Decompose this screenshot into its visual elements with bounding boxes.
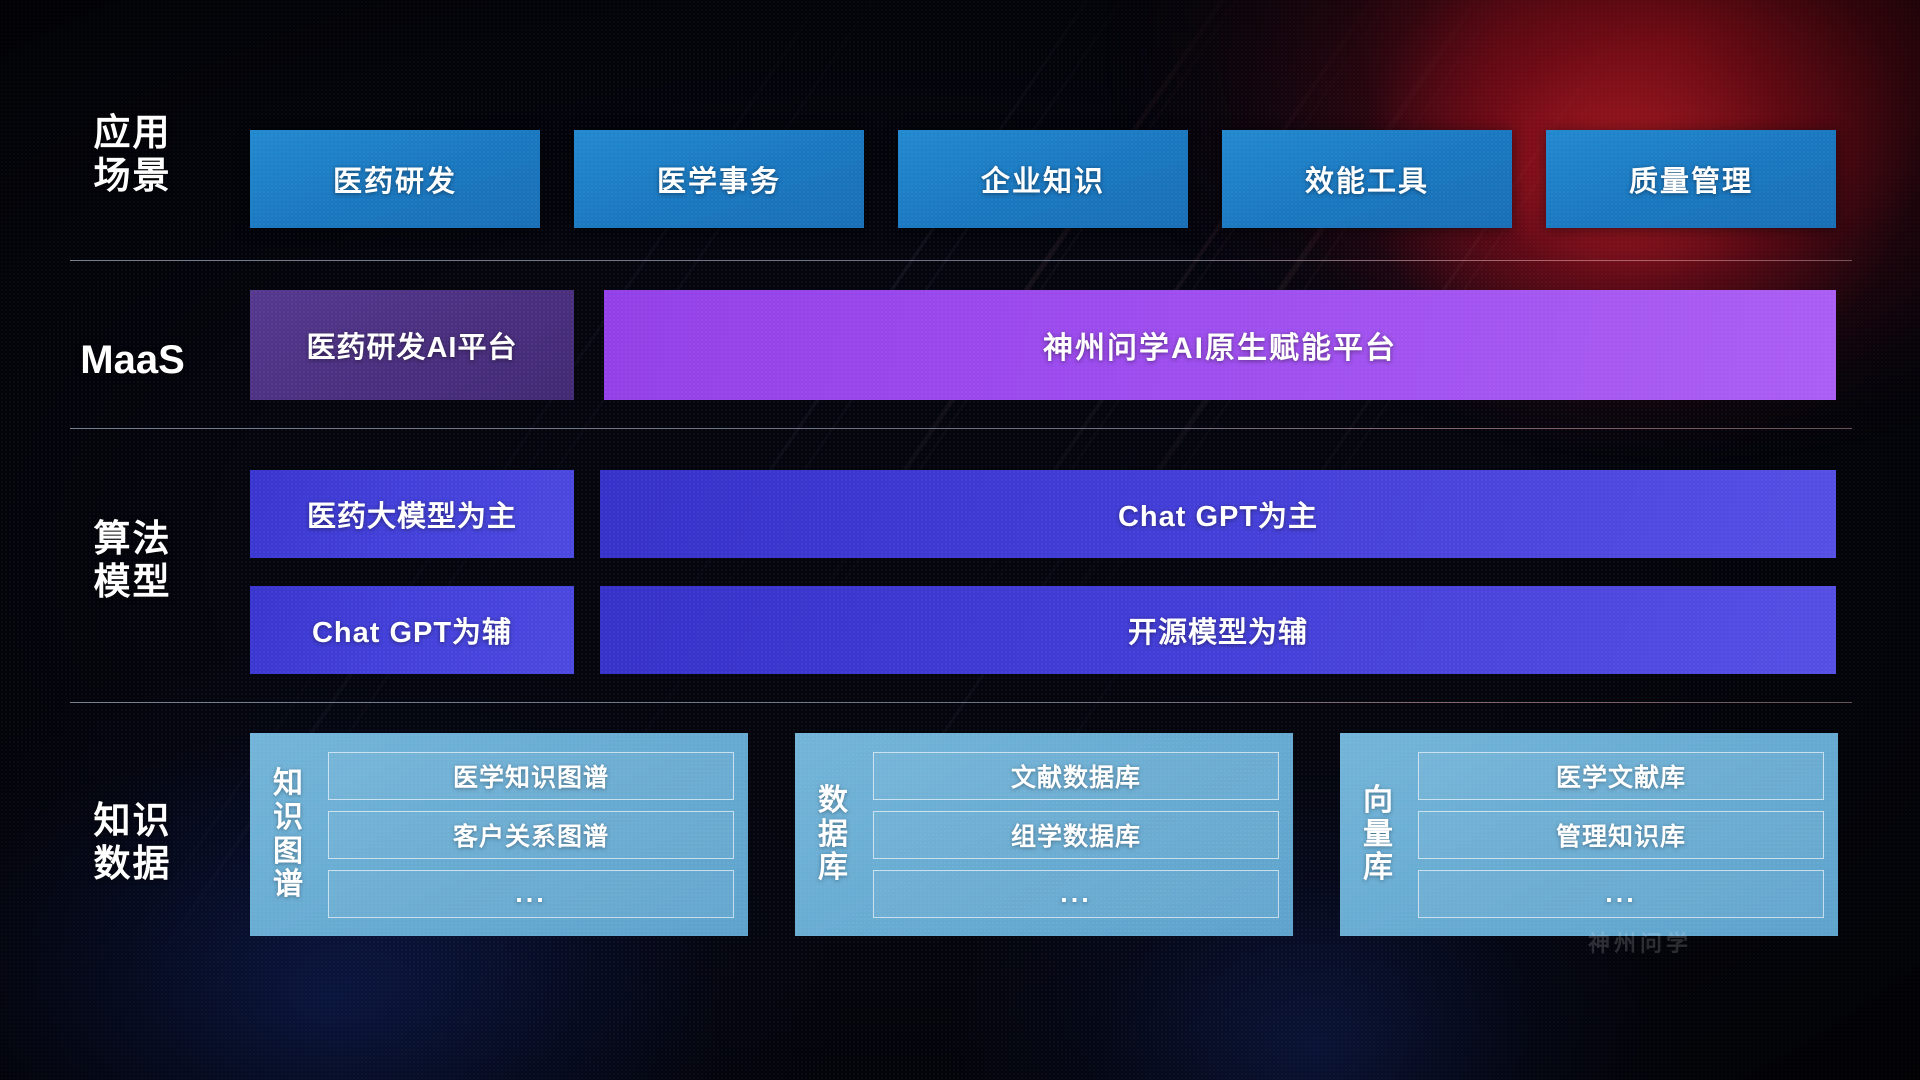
app-box-efficiency-tools[interactable]: 效能工具 <box>1222 130 1512 228</box>
knowledge-panel-vertical-title: 数 据 库 <box>805 743 861 926</box>
knowledge-item[interactable]: 客户关系图谱 <box>328 811 734 859</box>
vtitle-char: 识 <box>273 801 303 835</box>
vtitle-char: 库 <box>1363 851 1393 885</box>
knowledge-item-list: 医学文献库 管理知识库 ... <box>1418 743 1824 926</box>
divider-after-algorithm-row <box>70 702 1852 703</box>
app-box-medicine-rd[interactable]: 医药研发 <box>250 130 540 228</box>
knowledge-item-more[interactable]: ... <box>328 870 734 918</box>
knowledge-item-list: 文献数据库 组学数据库 ... <box>873 743 1279 926</box>
vtitle-char: 向 <box>1363 784 1393 818</box>
knowledge-panel-vector-store[interactable]: 向 量 库 医学文献库 管理知识库 ... <box>1340 733 1838 936</box>
divider-after-maas-row <box>70 428 1852 429</box>
architecture-diagram: 应用 场景 医药研发 医学事务 企业知识 效能工具 质量管理 MaaS 医药研发… <box>0 0 1920 1080</box>
row-label-line-1: 应用 <box>70 112 195 155</box>
knowledge-panel-vertical-title: 知 识 图 谱 <box>260 743 316 926</box>
row-label-line-1: 知识 <box>70 800 195 843</box>
vtitle-char: 知 <box>273 767 303 801</box>
algo-box-medicine-large-model-primary[interactable]: 医药大模型为主 <box>250 470 574 558</box>
app-box-medical-affairs[interactable]: 医学事务 <box>574 130 864 228</box>
row-label-line-2: 场景 <box>70 155 195 198</box>
row-label-application-scenarios: 应用 场景 <box>70 112 195 198</box>
vtitle-char: 量 <box>1363 818 1393 852</box>
app-box-enterprise-knowledge[interactable]: 企业知识 <box>898 130 1188 228</box>
knowledge-item-list: 医学知识图谱 客户关系图谱 ... <box>328 743 734 926</box>
knowledge-item[interactable]: 组学数据库 <box>873 811 1279 859</box>
knowledge-item[interactable]: 文献数据库 <box>873 752 1279 800</box>
row-label-maas: MaaS <box>70 337 195 383</box>
row-label-algorithm-models: 算法 模型 <box>70 518 195 604</box>
row-label-line-1: 算法 <box>70 518 195 561</box>
row-label-knowledge-data: 知识 数据 <box>70 800 195 886</box>
knowledge-item[interactable]: 医学知识图谱 <box>328 752 734 800</box>
vtitle-char: 据 <box>818 818 848 852</box>
algo-box-chatgpt-auxiliary[interactable]: Chat GPT为辅 <box>250 586 574 674</box>
vtitle-char: 库 <box>818 851 848 885</box>
row-label-line-2: 模型 <box>70 561 195 604</box>
knowledge-item[interactable]: 管理知识库 <box>1418 811 1824 859</box>
maas-box-medicine-rd-ai-platform[interactable]: 医药研发AI平台 <box>250 290 574 400</box>
vtitle-char: 图 <box>273 835 303 869</box>
divider-after-application-row <box>70 260 1852 261</box>
algo-box-chatgpt-primary[interactable]: Chat GPT为主 <box>600 470 1836 558</box>
knowledge-item-more[interactable]: ... <box>873 870 1279 918</box>
knowledge-panel-vertical-title: 向 量 库 <box>1350 743 1406 926</box>
watermark: 神州问学 <box>1588 926 1692 958</box>
maas-box-shenzhou-wenxue-platform[interactable]: 神州问学AI原生赋能平台 <box>604 290 1836 400</box>
algo-box-opensource-model-auxiliary[interactable]: 开源模型为辅 <box>600 586 1836 674</box>
row-label-line-2: 数据 <box>70 843 195 886</box>
knowledge-item-more[interactable]: ... <box>1418 870 1824 918</box>
vtitle-char: 谱 <box>273 868 303 902</box>
vtitle-char: 数 <box>818 784 848 818</box>
knowledge-item[interactable]: 医学文献库 <box>1418 752 1824 800</box>
knowledge-panel-database[interactable]: 数 据 库 文献数据库 组学数据库 ... <box>795 733 1293 936</box>
knowledge-panel-knowledge-graph[interactable]: 知 识 图 谱 医学知识图谱 客户关系图谱 ... <box>250 733 748 936</box>
app-box-quality-management[interactable]: 质量管理 <box>1546 130 1836 228</box>
